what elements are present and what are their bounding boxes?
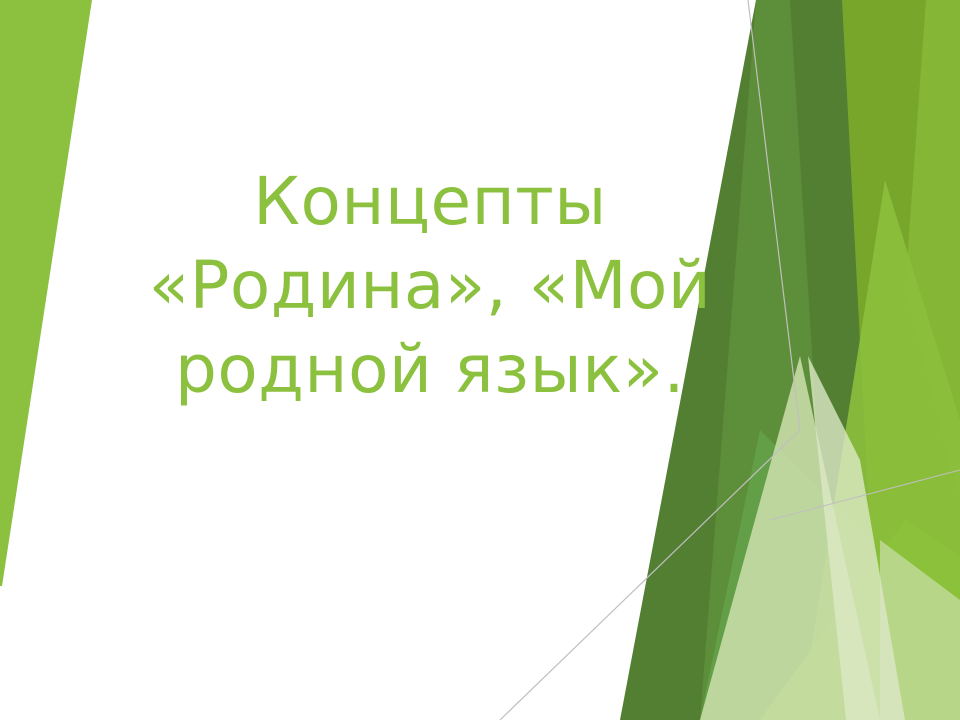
slide-title: Концепты «Родина», «Мой родной язык». — [120, 160, 740, 412]
title-line-1: Концепты — [120, 160, 740, 244]
title-slide: Концепты «Родина», «Мой родной язык». — [0, 0, 960, 720]
leaf-green-lower-facet — [700, 430, 930, 720]
hairline-crossing — [770, 470, 960, 520]
right-light-sliver — [905, 0, 960, 500]
bright-green-rising-wedge — [800, 180, 960, 720]
left-green-wedge — [0, 0, 92, 586]
hairline-lower — [500, 430, 800, 720]
pale-green-narrow-facet — [808, 356, 905, 720]
hairline-upper — [748, 0, 800, 430]
pale-green-right-facet — [880, 540, 960, 720]
title-line-2: «Родина», «Мой — [120, 244, 740, 328]
yellow-green-bottom-facet — [760, 520, 960, 720]
right-bright-band — [742, 0, 960, 720]
title-line-3: родной язык». — [120, 328, 740, 412]
